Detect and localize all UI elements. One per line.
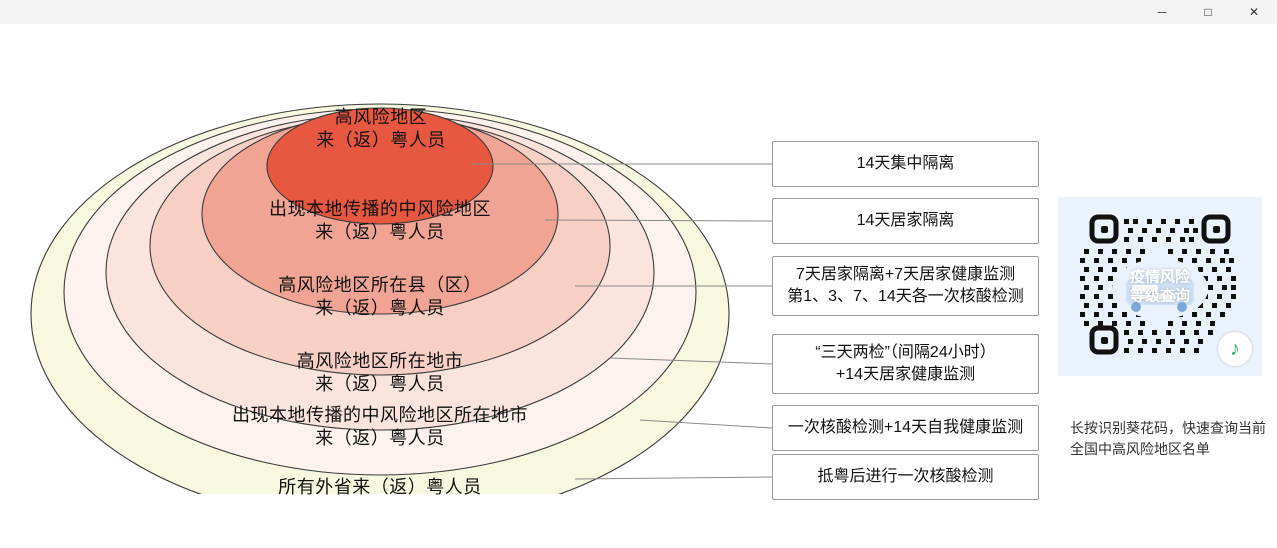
measure-box-0: 14天集中隔离 xyxy=(772,141,1039,187)
qr-caption-text: 长按识别葵花码，快速查询当前全国中高风险地区名单 xyxy=(1070,418,1266,460)
wechat-badge-glyph: ♪ xyxy=(1230,339,1240,359)
qr-code-panel[interactable]: 疫情风险 等级查询 ♪ xyxy=(1058,197,1262,376)
window-titlebar: ─ □ ✕ xyxy=(0,0,1277,25)
qr-center-label: 疫情风险 等级查询 xyxy=(1130,267,1190,306)
measure-box-2: 7天居家隔离+7天居家健康监测 第1、3、7、14天各一次核酸检测 xyxy=(772,256,1039,316)
measure-box-5: 抵粤后进行一次核酸检测 xyxy=(772,454,1039,500)
measure-box-1: 14天居家隔离 xyxy=(772,198,1039,244)
wechat-badge-icon: ♪ xyxy=(1218,332,1252,366)
measure-box-4: 一次核酸检测+14天自我健康监测 xyxy=(772,405,1039,451)
connector-line-5 xyxy=(575,477,772,479)
image-canvas: 高风险地区 来（返）粤人员 出现本地传播的中风险地区 来（返）粤人员 高风险地区… xyxy=(0,24,1277,548)
measure-box-3: “三天两检”（间隔24小时） +14天居家健康监测 xyxy=(772,334,1039,394)
funnel-layer-high-risk-area xyxy=(267,108,493,224)
close-button[interactable]: ✕ xyxy=(1231,0,1277,24)
maximize-button[interactable]: □ xyxy=(1185,0,1231,24)
minimize-button[interactable]: ─ xyxy=(1139,0,1185,24)
